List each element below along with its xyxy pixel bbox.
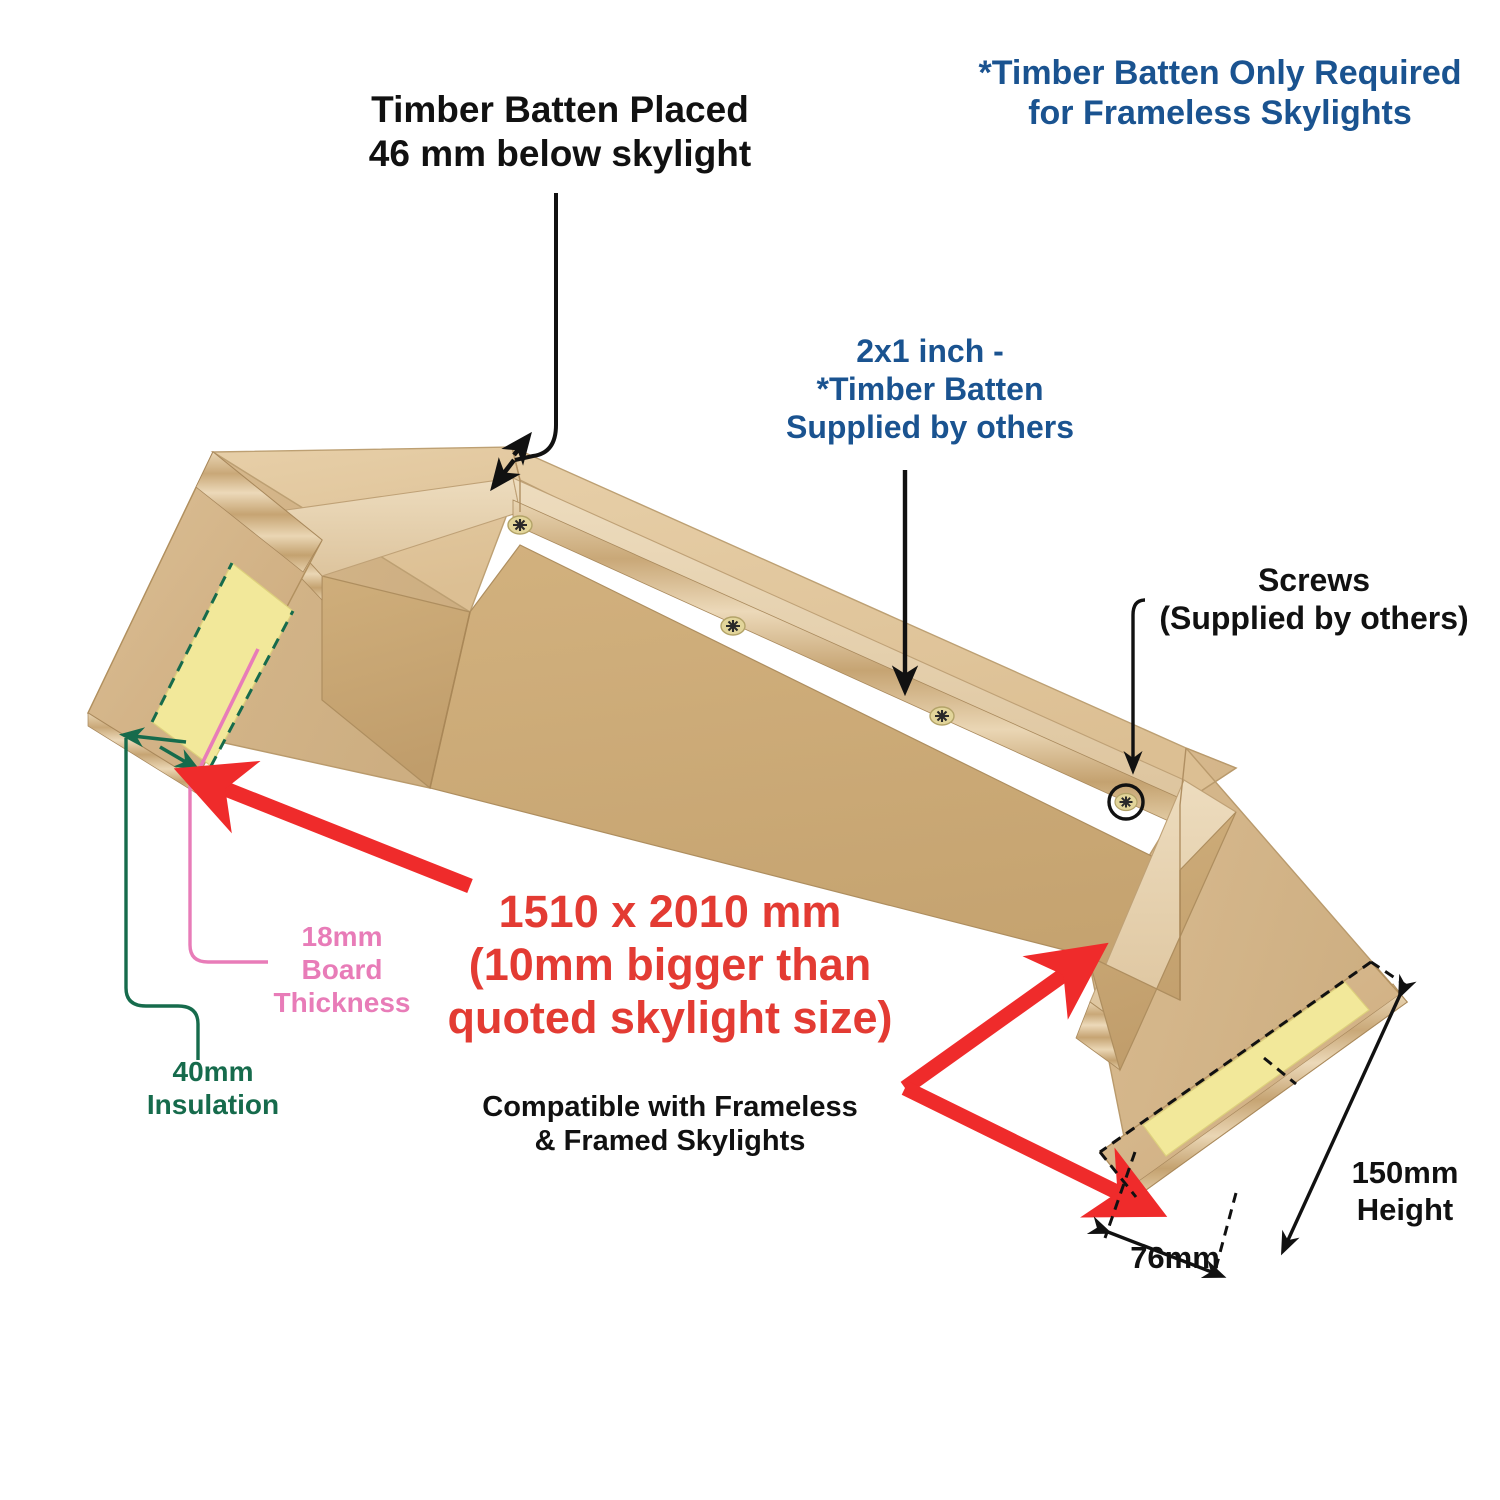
batten-spec-label: 2x1 inch - *Timber Batten Supplied by ot… [760,333,1100,446]
batten-placement-leader [494,193,556,486]
frameless-only-label: *Timber Batten Only Required for Framele… [940,53,1500,133]
width-dimension-label: 76mm [1120,1240,1230,1277]
batten-placement-label: Timber Batten Placed 46 mm below skyligh… [280,88,840,175]
screw-head-icon-1 [508,516,532,534]
board-thickness-label: 18mm Board Thickness [272,920,412,1019]
screw-head-icon-2 [721,617,745,635]
red-arrow-to-right-corner [905,1088,1139,1203]
red-arrow-to-left-corner [203,780,470,886]
diagram-canvas: Timber Batten Placed 46 mm below skyligh… [0,0,1500,1500]
height-dimension-label: 150mm Height [1330,1155,1480,1228]
kerb-illustration [0,0,1500,1500]
compatibility-label: Compatible with Frameless & Framed Skyli… [455,1090,885,1158]
insulation-label: 40mm Insulation [128,1055,298,1121]
screws-label: Screws (Supplied by others) [1128,562,1500,638]
opening-size-label: 1510 x 2010 mm (10mm bigger than quoted … [400,885,940,1044]
screw-head-icon-3 [930,707,954,725]
